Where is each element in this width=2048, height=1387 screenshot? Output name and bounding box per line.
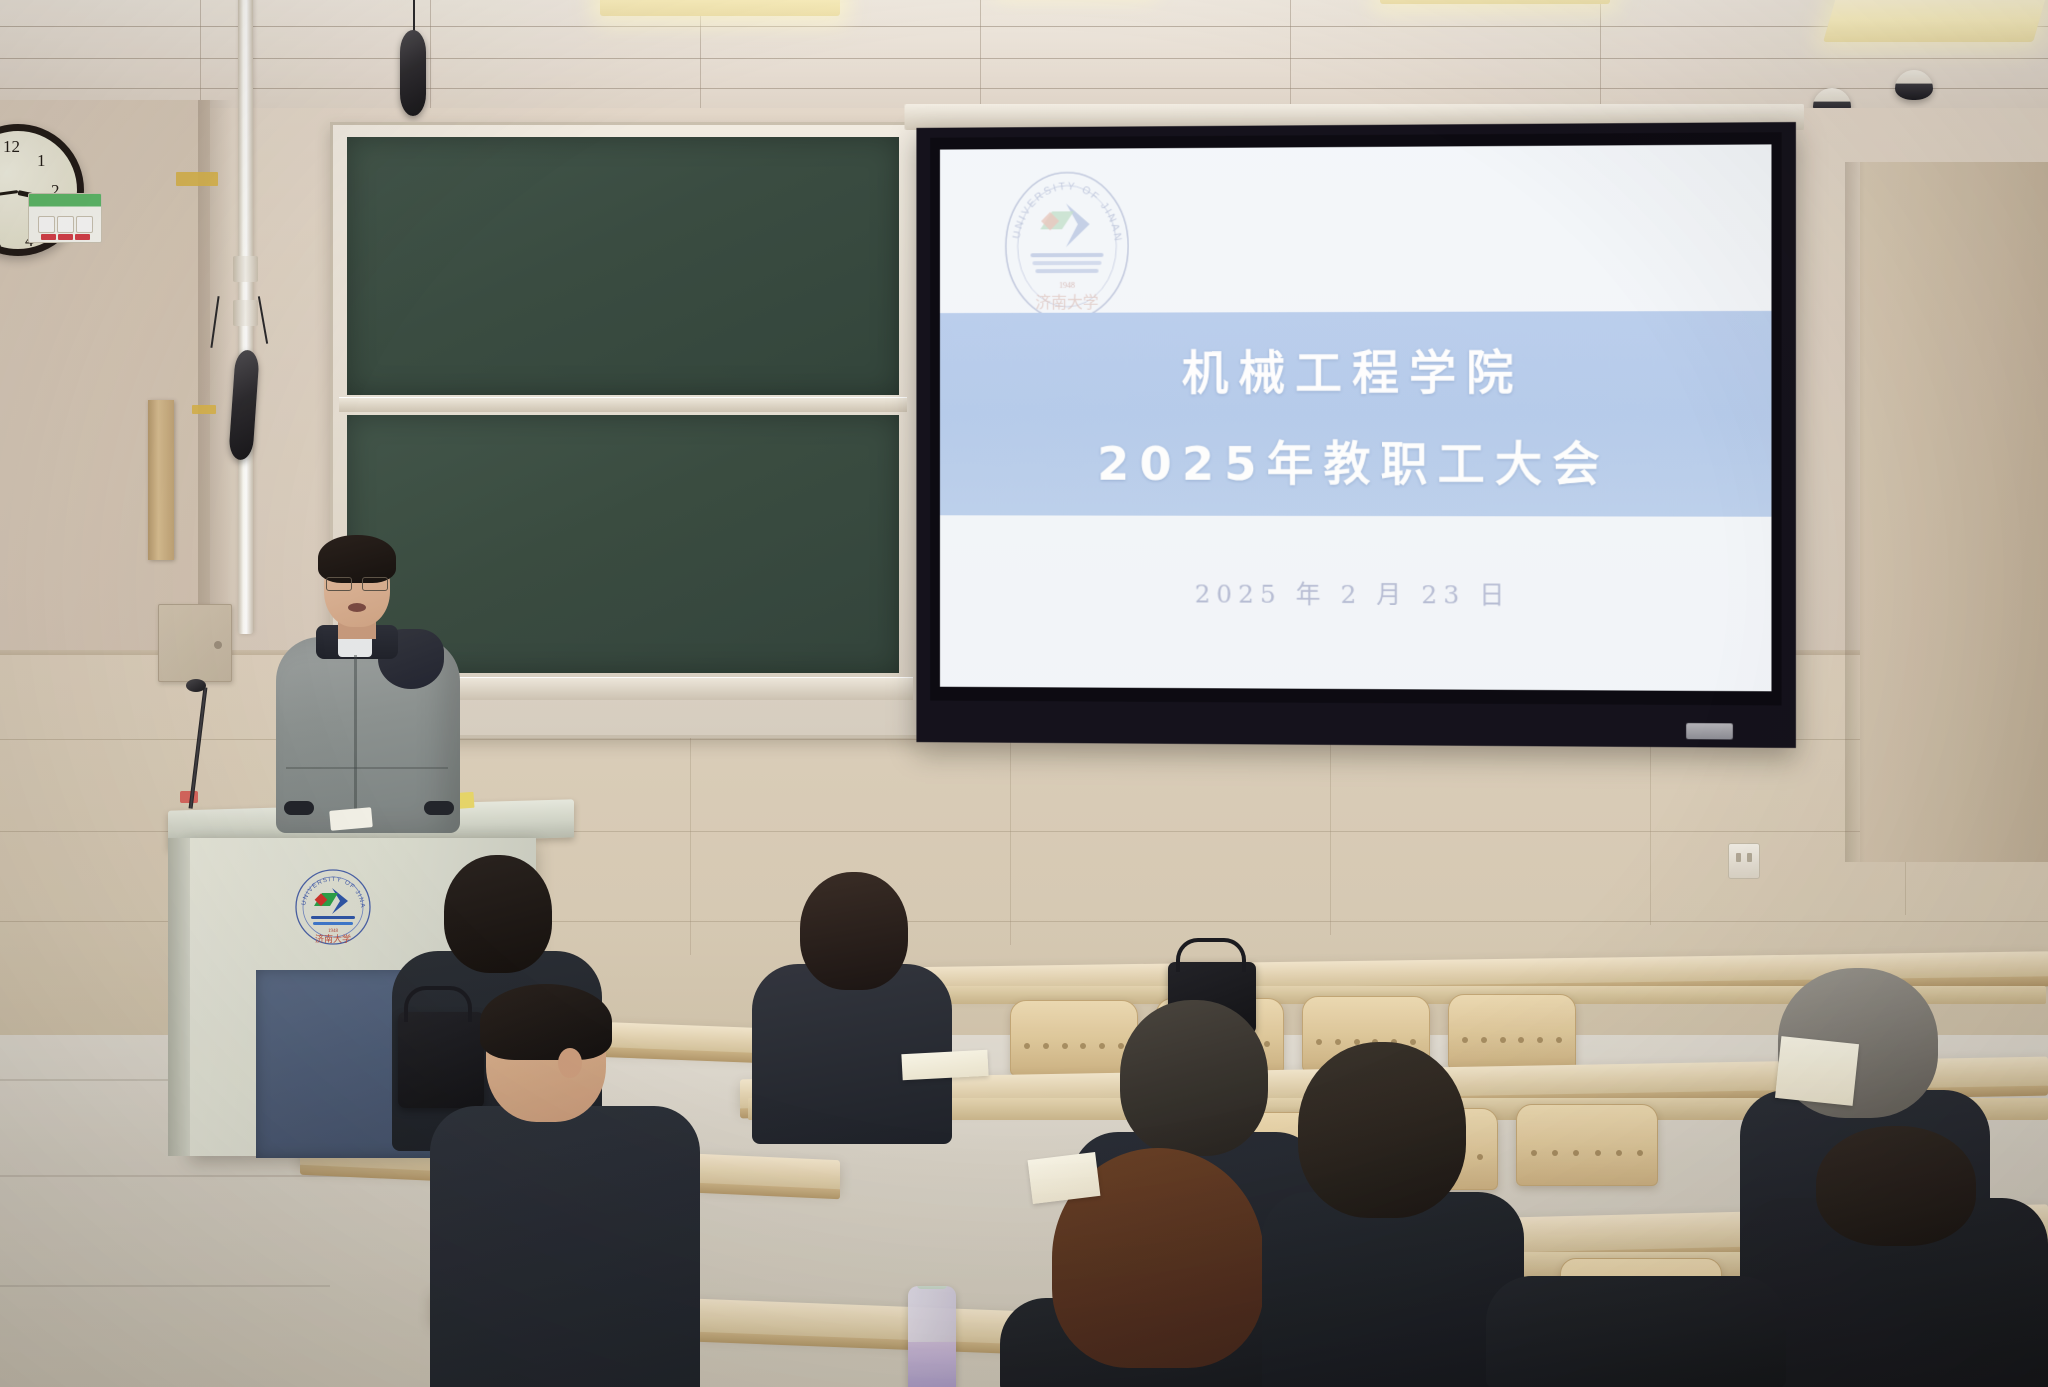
attendee-front-row-right bbox=[1486, 1242, 1786, 1387]
attendee-hair bbox=[480, 984, 612, 1060]
speaker-hair bbox=[318, 535, 396, 583]
chalkboard-panel-top bbox=[347, 137, 899, 395]
bottle-label bbox=[908, 1342, 956, 1387]
rail-clamp bbox=[233, 300, 258, 326]
ceiling-light-panel bbox=[600, 0, 840, 16]
water-bottle bbox=[908, 1286, 956, 1387]
dome-camera-icon bbox=[1895, 70, 1933, 100]
slide-date: 2025 年 2 月 23 日 bbox=[940, 574, 1772, 613]
attendee-body bbox=[430, 1106, 700, 1387]
lecture-hall-screenshot: 12 1 2 3 4 5 bbox=[0, 0, 2048, 1387]
clock-minute-hand bbox=[0, 190, 18, 199]
attendee-head bbox=[1816, 1126, 1976, 1246]
svg-text:济南大学: 济南大学 bbox=[315, 933, 351, 945]
no-littering-icon bbox=[57, 216, 74, 233]
slide-title-line-1: 机械工程学院 bbox=[1182, 334, 1524, 403]
svg-text:1948: 1948 bbox=[328, 929, 339, 934]
hanging-microphone-icon bbox=[400, 30, 426, 116]
notebook-papers bbox=[1028, 1152, 1101, 1204]
attendee-dark-coat-far-right bbox=[1740, 1126, 2048, 1387]
no-smoking-safety-sign bbox=[28, 193, 102, 243]
projection-screen: UNIVERSITY OF JINAN 1948 济南大学 机械工程学院 202… bbox=[916, 122, 1795, 748]
attendee-head bbox=[1298, 1042, 1466, 1218]
university-logo-icon: UNIVERSITY OF JINAN 1948 济南大学 bbox=[294, 868, 372, 946]
clock-numeral: 5 bbox=[0, 235, 2, 255]
ceiling-light-panel bbox=[1380, 0, 1610, 4]
speaker-mouth bbox=[348, 603, 366, 612]
svg-text:1948: 1948 bbox=[1059, 281, 1075, 290]
slide-title-line-2: 2025年教职工大会 bbox=[1097, 425, 1609, 494]
attendee-head bbox=[1120, 1000, 1268, 1156]
notebook-papers bbox=[1775, 1036, 1859, 1106]
speaker-notes bbox=[329, 807, 373, 831]
glasses-icon bbox=[326, 577, 388, 589]
no-smoking-icon bbox=[38, 216, 55, 233]
attendee-head bbox=[444, 855, 552, 973]
svg-text:济南大学: 济南大学 bbox=[1036, 293, 1099, 312]
right-wall-column bbox=[1860, 162, 2048, 862]
presentation-slide: UNIVERSITY OF JINAN 1948 济南大学 机械工程学院 202… bbox=[940, 144, 1772, 691]
handbag-handle bbox=[1176, 938, 1246, 972]
rail-clamp bbox=[233, 256, 258, 282]
right-wall-shadow bbox=[1845, 162, 1865, 862]
attendee-body bbox=[1262, 1192, 1524, 1387]
screen-brand-plate bbox=[1686, 723, 1733, 739]
notice-icon bbox=[76, 216, 93, 233]
attendee-head bbox=[800, 872, 908, 990]
podium-microphone-icon bbox=[186, 679, 206, 692]
university-logo-icon: UNIVERSITY OF JINAN 1948 济南大学 bbox=[1001, 167, 1134, 325]
panel-knob-icon bbox=[214, 641, 222, 649]
ceiling bbox=[0, 0, 2048, 118]
attendee-dark-jacket-second-row-left bbox=[430, 990, 700, 1387]
notebook-papers bbox=[901, 1050, 988, 1080]
wall-yellow-tag bbox=[192, 405, 216, 414]
microphone-cable bbox=[413, 0, 415, 32]
wall-power-outlet[interactable] bbox=[1728, 843, 1760, 879]
wall-service-panel[interactable] bbox=[158, 604, 232, 682]
ceiling-light-panel bbox=[1823, 0, 2047, 42]
wall-yellow-tag bbox=[176, 172, 218, 186]
attendee-black-coat-back-row-center bbox=[752, 872, 952, 1132]
chalkboard-rail bbox=[339, 397, 907, 412]
clock-numeral: 12 bbox=[3, 137, 20, 157]
attendee-dark-hair-center-right bbox=[1262, 1042, 1524, 1387]
wall-wood-strip bbox=[148, 400, 174, 560]
speaker-at-podium bbox=[268, 525, 468, 825]
clock-numeral: 1 bbox=[37, 151, 46, 171]
chair[interactable] bbox=[1516, 1104, 1658, 1186]
attendee-body bbox=[1486, 1276, 1786, 1387]
attendee-ear bbox=[558, 1048, 582, 1078]
bottle-cap bbox=[917, 1286, 947, 1289]
